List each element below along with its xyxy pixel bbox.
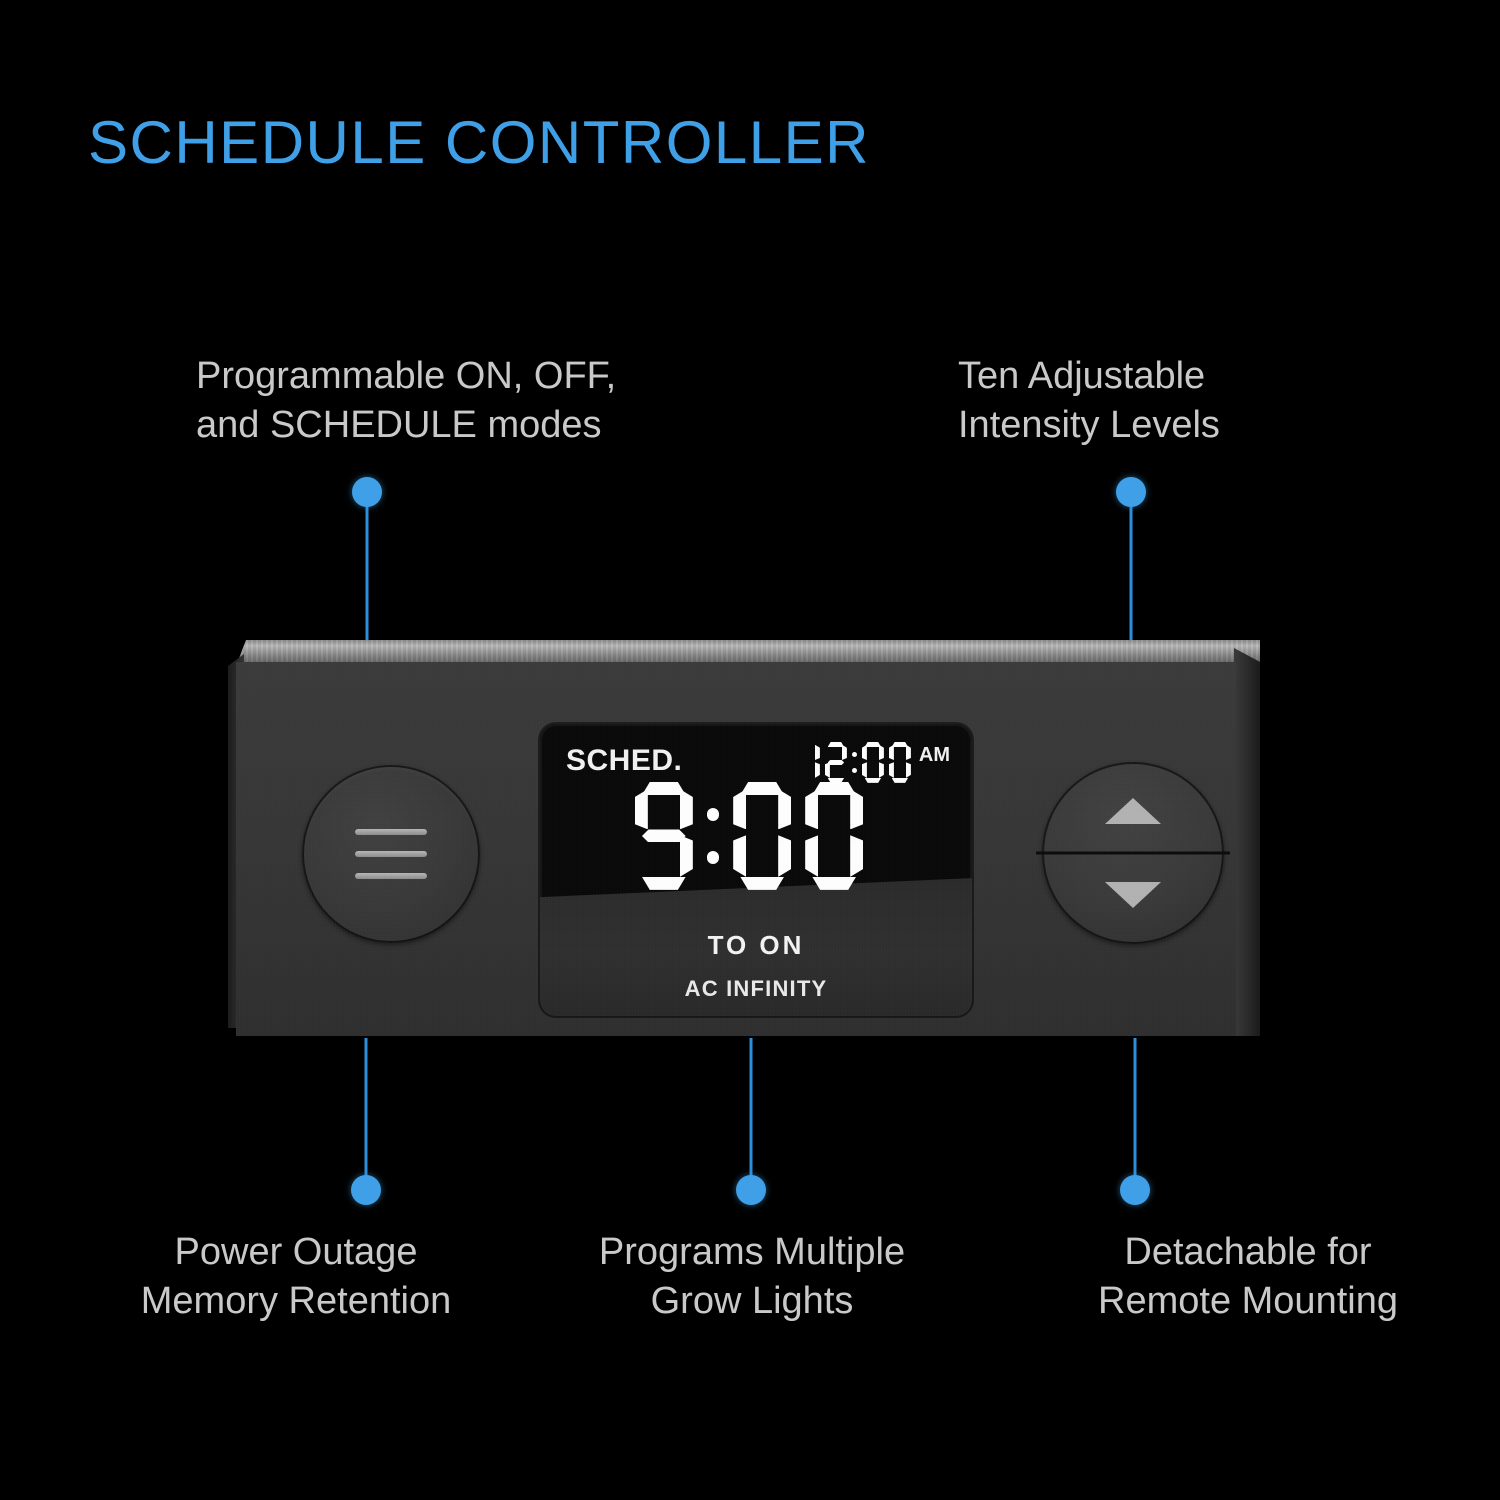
intensity-rocker-button[interactable] xyxy=(1042,762,1224,944)
callout-dot-modes[interactable] xyxy=(352,477,382,507)
leader-line-modes xyxy=(366,505,369,655)
lcd-screen-surface xyxy=(540,724,972,1016)
triangle-up-icon[interactable] xyxy=(1105,798,1161,824)
leader-line-multi xyxy=(750,1038,753,1178)
callout-label-multi: Programs Multiple Grow Lights xyxy=(599,1228,905,1325)
leader-line-memory xyxy=(365,1038,368,1178)
callout-label-modes: Programmable ON, OFF, and SCHEDULE modes xyxy=(196,352,616,449)
callout-dot-multi[interactable] xyxy=(736,1175,766,1205)
menu-icon-bar-2 xyxy=(355,851,427,857)
lcd-clock: AM xyxy=(798,742,950,783)
callout-detach-line1: Detachable for xyxy=(1098,1228,1398,1277)
lcd-display: SCHED. AM TO ON AC INFINITY xyxy=(540,724,972,1016)
callout-label-memory: Power Outage Memory Retention xyxy=(141,1228,451,1325)
callout-label-intensity: Ten Adjustable Intensity Levels xyxy=(958,352,1220,449)
callout-modes-line1: Programmable ON, OFF, xyxy=(196,352,616,401)
menu-button[interactable] xyxy=(302,765,480,943)
seg-digit xyxy=(635,782,693,890)
callout-dot-intensity[interactable] xyxy=(1116,477,1146,507)
lcd-clock-digits xyxy=(798,742,916,783)
callout-multi-line2: Grow Lights xyxy=(599,1277,905,1326)
callout-memory-line1: Power Outage xyxy=(141,1228,451,1277)
seg-digit xyxy=(889,742,911,783)
callout-intensity-line1: Ten Adjustable xyxy=(958,352,1220,401)
seg-digit xyxy=(825,742,847,783)
device-side-face xyxy=(1234,648,1260,1036)
lcd-brand-label: AC INFINITY xyxy=(540,976,972,1002)
seg-colon xyxy=(707,782,719,890)
page-title: SCHEDULE CONTROLLER xyxy=(88,108,870,177)
seg-colon xyxy=(852,742,857,783)
menu-icon-bar-3 xyxy=(355,873,427,879)
rocker-divider xyxy=(1036,852,1230,855)
lcd-glare-reflection xyxy=(540,876,972,1016)
callout-multi-line1: Programs Multiple xyxy=(599,1228,905,1277)
callout-modes-line2: and SCHEDULE modes xyxy=(196,401,616,450)
schedule-controller-device: SCHED. AM TO ON AC INFINITY xyxy=(228,640,1260,1036)
seg-digit xyxy=(733,782,791,890)
lcd-main-time xyxy=(540,782,972,890)
seg-digit xyxy=(862,742,884,783)
callout-dot-detach[interactable] xyxy=(1120,1175,1150,1205)
device-front-face: SCHED. AM TO ON AC INFINITY xyxy=(236,662,1236,1036)
callout-intensity-line2: Intensity Levels xyxy=(958,401,1220,450)
lcd-meridiem: AM xyxy=(919,744,950,767)
leader-line-detach xyxy=(1134,1038,1137,1178)
seg-digit xyxy=(805,782,863,890)
callout-dot-memory[interactable] xyxy=(351,1175,381,1205)
triangle-down-icon[interactable] xyxy=(1105,882,1161,908)
seg-digit xyxy=(798,742,820,783)
callout-label-detach: Detachable for Remote Mounting xyxy=(1098,1228,1398,1325)
leader-line-intensity xyxy=(1130,505,1133,655)
menu-icon-bar-1 xyxy=(355,829,427,835)
callout-memory-line2: Memory Retention xyxy=(141,1277,451,1326)
lcd-status-label: TO ON xyxy=(540,930,972,961)
callout-detach-line2: Remote Mounting xyxy=(1098,1277,1398,1326)
lcd-mode-label: SCHED. xyxy=(566,744,682,778)
